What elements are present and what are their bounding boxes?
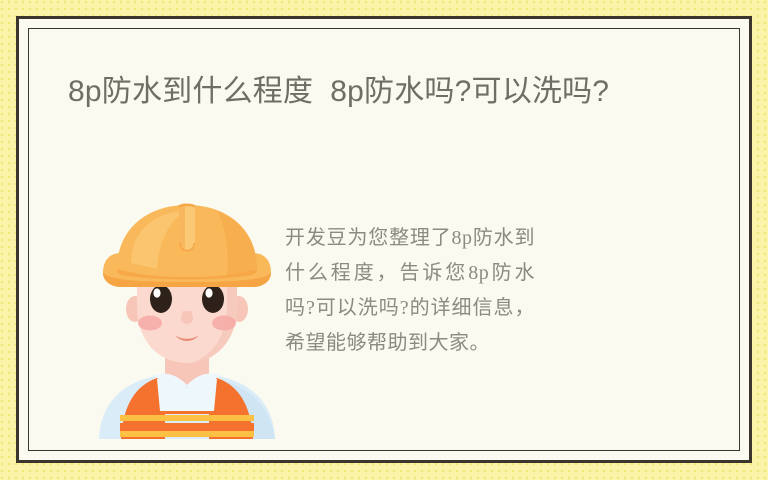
article-title: 8p防水到什么程度 8p防水吗?可以洗吗? (68, 71, 688, 112)
article-content: 开发豆为您整理了8p防水到什么程度，告诉您8p防水吗?可以洗吗?的详细信息，希望… (29, 179, 739, 439)
construction-worker-icon (87, 199, 287, 439)
inner-frame-border: 8p防水到什么程度 8p防水吗?可以洗吗? (28, 28, 740, 451)
outer-frame-border: 8p防水到什么程度 8p防水吗?可以洗吗? (16, 16, 752, 463)
worker-illustration (87, 199, 287, 439)
page-canvas: 8p防水到什么程度 8p防水吗?可以洗吗? (0, 0, 768, 480)
article-body-text: 开发豆为您整理了8p防水到什么程度，告诉您8p防水吗?可以洗吗?的详细信息，希望… (285, 221, 535, 361)
